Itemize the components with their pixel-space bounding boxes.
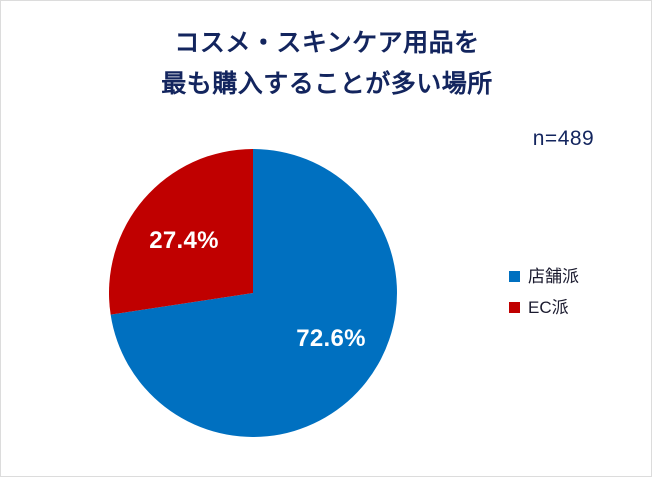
legend-label-store: 店舗派 (528, 268, 579, 285)
pie-chart-card: コスメ・スキンケア用品を 最も購入することが多い場所 n=489 72.6% 2… (0, 0, 652, 477)
legend-swatch-blue-icon (509, 271, 520, 282)
legend-item-ec[interactable]: EC派 (509, 294, 579, 321)
legend-item-store[interactable]: 店舗派 (509, 263, 579, 290)
chart-title-line-2: 最も購入することが多い場所 (1, 64, 652, 105)
chart-title: コスメ・スキンケア用品を 最も購入することが多い場所 (1, 23, 652, 105)
pie-chart-svg (109, 149, 397, 437)
pie-slice-label-ec: 27.4% (124, 227, 244, 255)
legend-label-ec: EC派 (528, 299, 569, 316)
legend-swatch-red-icon (509, 302, 520, 313)
sample-size-annotation: n=489 (501, 127, 626, 151)
chart-legend: 店舗派 EC派 (509, 263, 579, 325)
pie-chart: 72.6% 27.4% (109, 149, 397, 437)
chart-title-line-1: コスメ・スキンケア用品を (1, 23, 652, 64)
pie-slice-label-store: 72.6% (271, 325, 391, 353)
